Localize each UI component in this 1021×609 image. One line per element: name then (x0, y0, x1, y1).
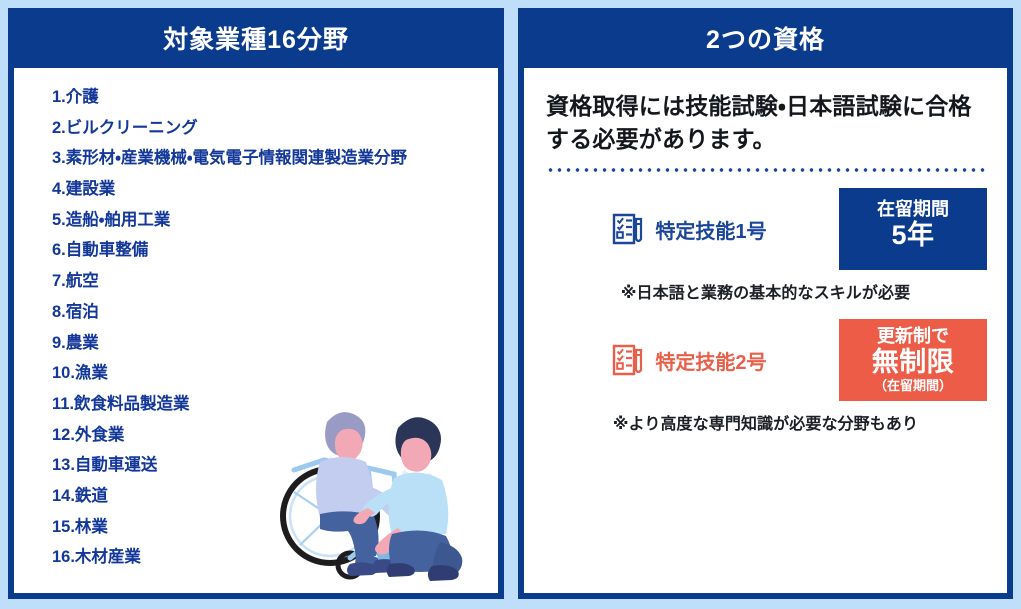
right-panel-body: 資格取得には技能試験・日本語試験に合格する必要があります。 (524, 68, 1007, 593)
left-panel-title: 対象業種16分野 (13, 13, 499, 68)
list-item: 8.宿泊 (52, 304, 498, 335)
list-item: 12.外食業 (52, 427, 498, 458)
qualification-row-2: 特定技能2号 更新制で 無制限 （在留期間） (544, 319, 987, 401)
list-item: 4.建設業 (52, 181, 498, 212)
list-item: 16.木材産業 (52, 549, 498, 580)
list-item: 6.自動車整備 (52, 242, 498, 273)
checklist-document-icon (610, 343, 644, 377)
badge-top-label-2: 更新制で (839, 326, 987, 347)
list-item: 13.自動車運送 (52, 457, 498, 488)
list-item: 3.素形材・産業機械・電気電子情報関連製造業分野 (52, 150, 498, 181)
qualification-note-2: ※より高度な専門知識が必要な分野もあり (544, 410, 987, 434)
checklist-document-icon (610, 212, 644, 246)
qualification-label-1: 特定技能1号 (655, 215, 766, 244)
qualification-label-2: 特定技能2号 (655, 346, 766, 375)
qualification-label-group-2: 特定技能2号 (544, 343, 839, 377)
badge-top-label-1: 在留期間 (839, 199, 987, 220)
badge-main-label-1: 5年 (839, 220, 987, 251)
qualification-note-1: ※日本語と業務の基本的なスキルが必要 (544, 279, 987, 303)
left-panel-body: 1.介護2.ビルクリーニング3.素形材・産業機械・電気電子情報関連製造業分野4.… (14, 68, 498, 593)
list-item: 7.航空 (52, 273, 498, 304)
qualification-row-1: 特定技能1号 在留期間 5年 (544, 188, 987, 270)
qualification-block-1: 特定技能1号 在留期間 5年 ※日本語と業務の基本的なスキルが必要 (524, 188, 1007, 303)
two-qualifications-panel: 2つの資格 資格取得には技能試験・日本語試験に合格する必要があります。 (518, 8, 1013, 599)
residency-badge-1: 在留期間 5年 (839, 188, 987, 270)
list-item: 1.介護 (52, 89, 498, 120)
qualification-block-2: 特定技能2号 更新制で 無制限 （在留期間） ※より高度な専門知識が必要な分野も… (524, 319, 1007, 434)
residency-badge-2: 更新制で 無制限 （在留期間） (839, 319, 987, 401)
list-item: 5.造船・舶用工業 (52, 212, 498, 243)
target-sectors-panel: 対象業種16分野 1.介護2.ビルクリーニング3.素形材・産業機械・電気電子情報… (8, 8, 504, 599)
lead-text: 資格取得には技能試験・日本語試験に合格する必要があります。 (524, 68, 1007, 155)
list-item: 2.ビルクリーニング (52, 120, 498, 151)
infographic-stage: 対象業種16分野 1.介護2.ビルクリーニング3.素形材・産業機械・電気電子情報… (0, 0, 1021, 609)
badge-sub-label-2: （在留期間） (839, 378, 987, 394)
list-item: 14.鉄道 (52, 488, 498, 519)
qualification-label-group-1: 特定技能1号 (544, 212, 839, 246)
dotted-divider (546, 168, 985, 172)
list-item: 15.林業 (52, 519, 498, 550)
right-panel-title: 2つの資格 (523, 13, 1008, 68)
list-item: 9.農業 (52, 335, 498, 366)
list-item: 10.漁業 (52, 365, 498, 396)
badge-main-label-2: 無制限 (839, 347, 987, 378)
sector-list: 1.介護2.ビルクリーニング3.素形材・産業機械・電気電子情報関連製造業分野4.… (14, 68, 498, 580)
list-item: 11.飲食料品製造業 (52, 396, 498, 427)
